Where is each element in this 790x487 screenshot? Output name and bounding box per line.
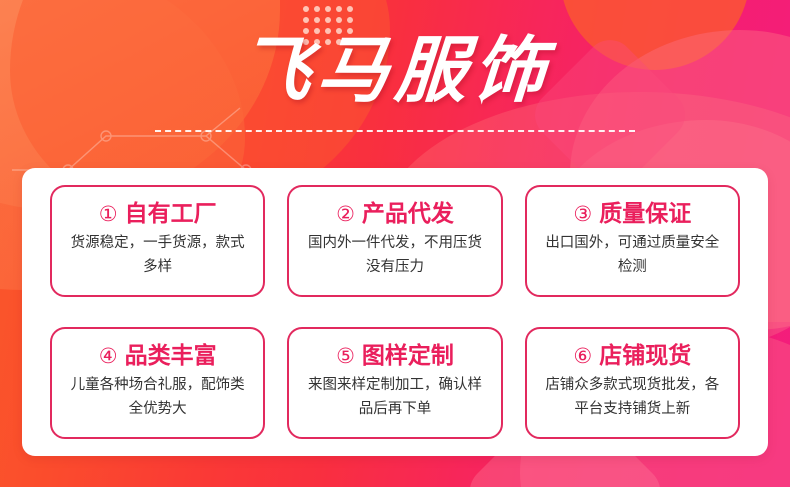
feature-card-4-number: ④ [99,346,118,367]
feature-card-1-title: ① 自有工厂 [99,201,217,227]
feature-card-1-title-text: 自有工厂 [125,201,217,227]
feature-card-4-body: 儿童各种场合礼服，配饰类全优势大 [66,374,249,421]
feature-card-4-title: ④ 品类丰富 [99,343,217,369]
feature-card-4[interactable]: ④ 品类丰富 儿童各种场合礼服，配饰类全优势大 [50,327,265,439]
dashed-divider [155,130,635,132]
feature-card-2-number: ② [336,204,355,225]
feature-card-3[interactable]: ③ 质量保证 出口国外，可通过质量安全检测 [525,185,740,297]
feature-card-3-title-text: 质量保证 [599,201,691,227]
feature-card-1-body: 货源稳定，一手货源，款式多样 [66,232,249,279]
page-title: 飞马服饰 [236,30,554,111]
features-grid: ① 自有工厂 货源稳定，一手货源，款式多样 ② 产品代发 国内外一件代发，不用压… [50,185,740,439]
feature-card-5-title-text: 图样定制 [362,343,454,369]
feature-card-1-number: ① [99,204,118,225]
feature-card-3-number: ③ [573,204,592,225]
feature-card-2[interactable]: ② 产品代发 国内外一件代发，不用压货没有压力 [287,185,502,297]
feature-card-2-title-text: 产品代发 [362,201,454,227]
feature-card-6-number: ⑥ [573,346,592,367]
banner-title-container: 飞马服饰 [0,30,790,111]
feature-card-1[interactable]: ① 自有工厂 货源稳定，一手货源，款式多样 [50,185,265,297]
promo-banner: 飞马服饰 ① 自有工厂 货源稳定，一手货源，款式多样 ② 产品代发 国内外一件代… [0,0,790,487]
feature-card-5-body: 来图来样定制加工，确认样品后再下单 [303,374,486,421]
feature-card-5-number: ⑤ [336,346,355,367]
feature-card-3-body: 出口国外，可通过质量安全检测 [541,232,724,279]
feature-card-6-title-text: 店铺现货 [599,343,691,369]
feature-card-5-title: ⑤ 图样定制 [336,343,454,369]
feature-card-5[interactable]: ⑤ 图样定制 来图来样定制加工，确认样品后再下单 [287,327,502,439]
feature-card-4-title-text: 品类丰富 [125,343,217,369]
feature-card-2-title: ② 产品代发 [336,201,454,227]
feature-card-3-title: ③ 质量保证 [573,201,691,227]
features-panel: ① 自有工厂 货源稳定，一手货源，款式多样 ② 产品代发 国内外一件代发，不用压… [22,168,768,456]
feature-card-6[interactable]: ⑥ 店铺现货 店铺众多款式现货批发，各平台支持铺货上新 [525,327,740,439]
feature-card-6-title: ⑥ 店铺现货 [573,343,691,369]
feature-card-2-body: 国内外一件代发，不用压货没有压力 [303,232,486,279]
feature-card-6-body: 店铺众多款式现货批发，各平台支持铺货上新 [541,374,724,421]
